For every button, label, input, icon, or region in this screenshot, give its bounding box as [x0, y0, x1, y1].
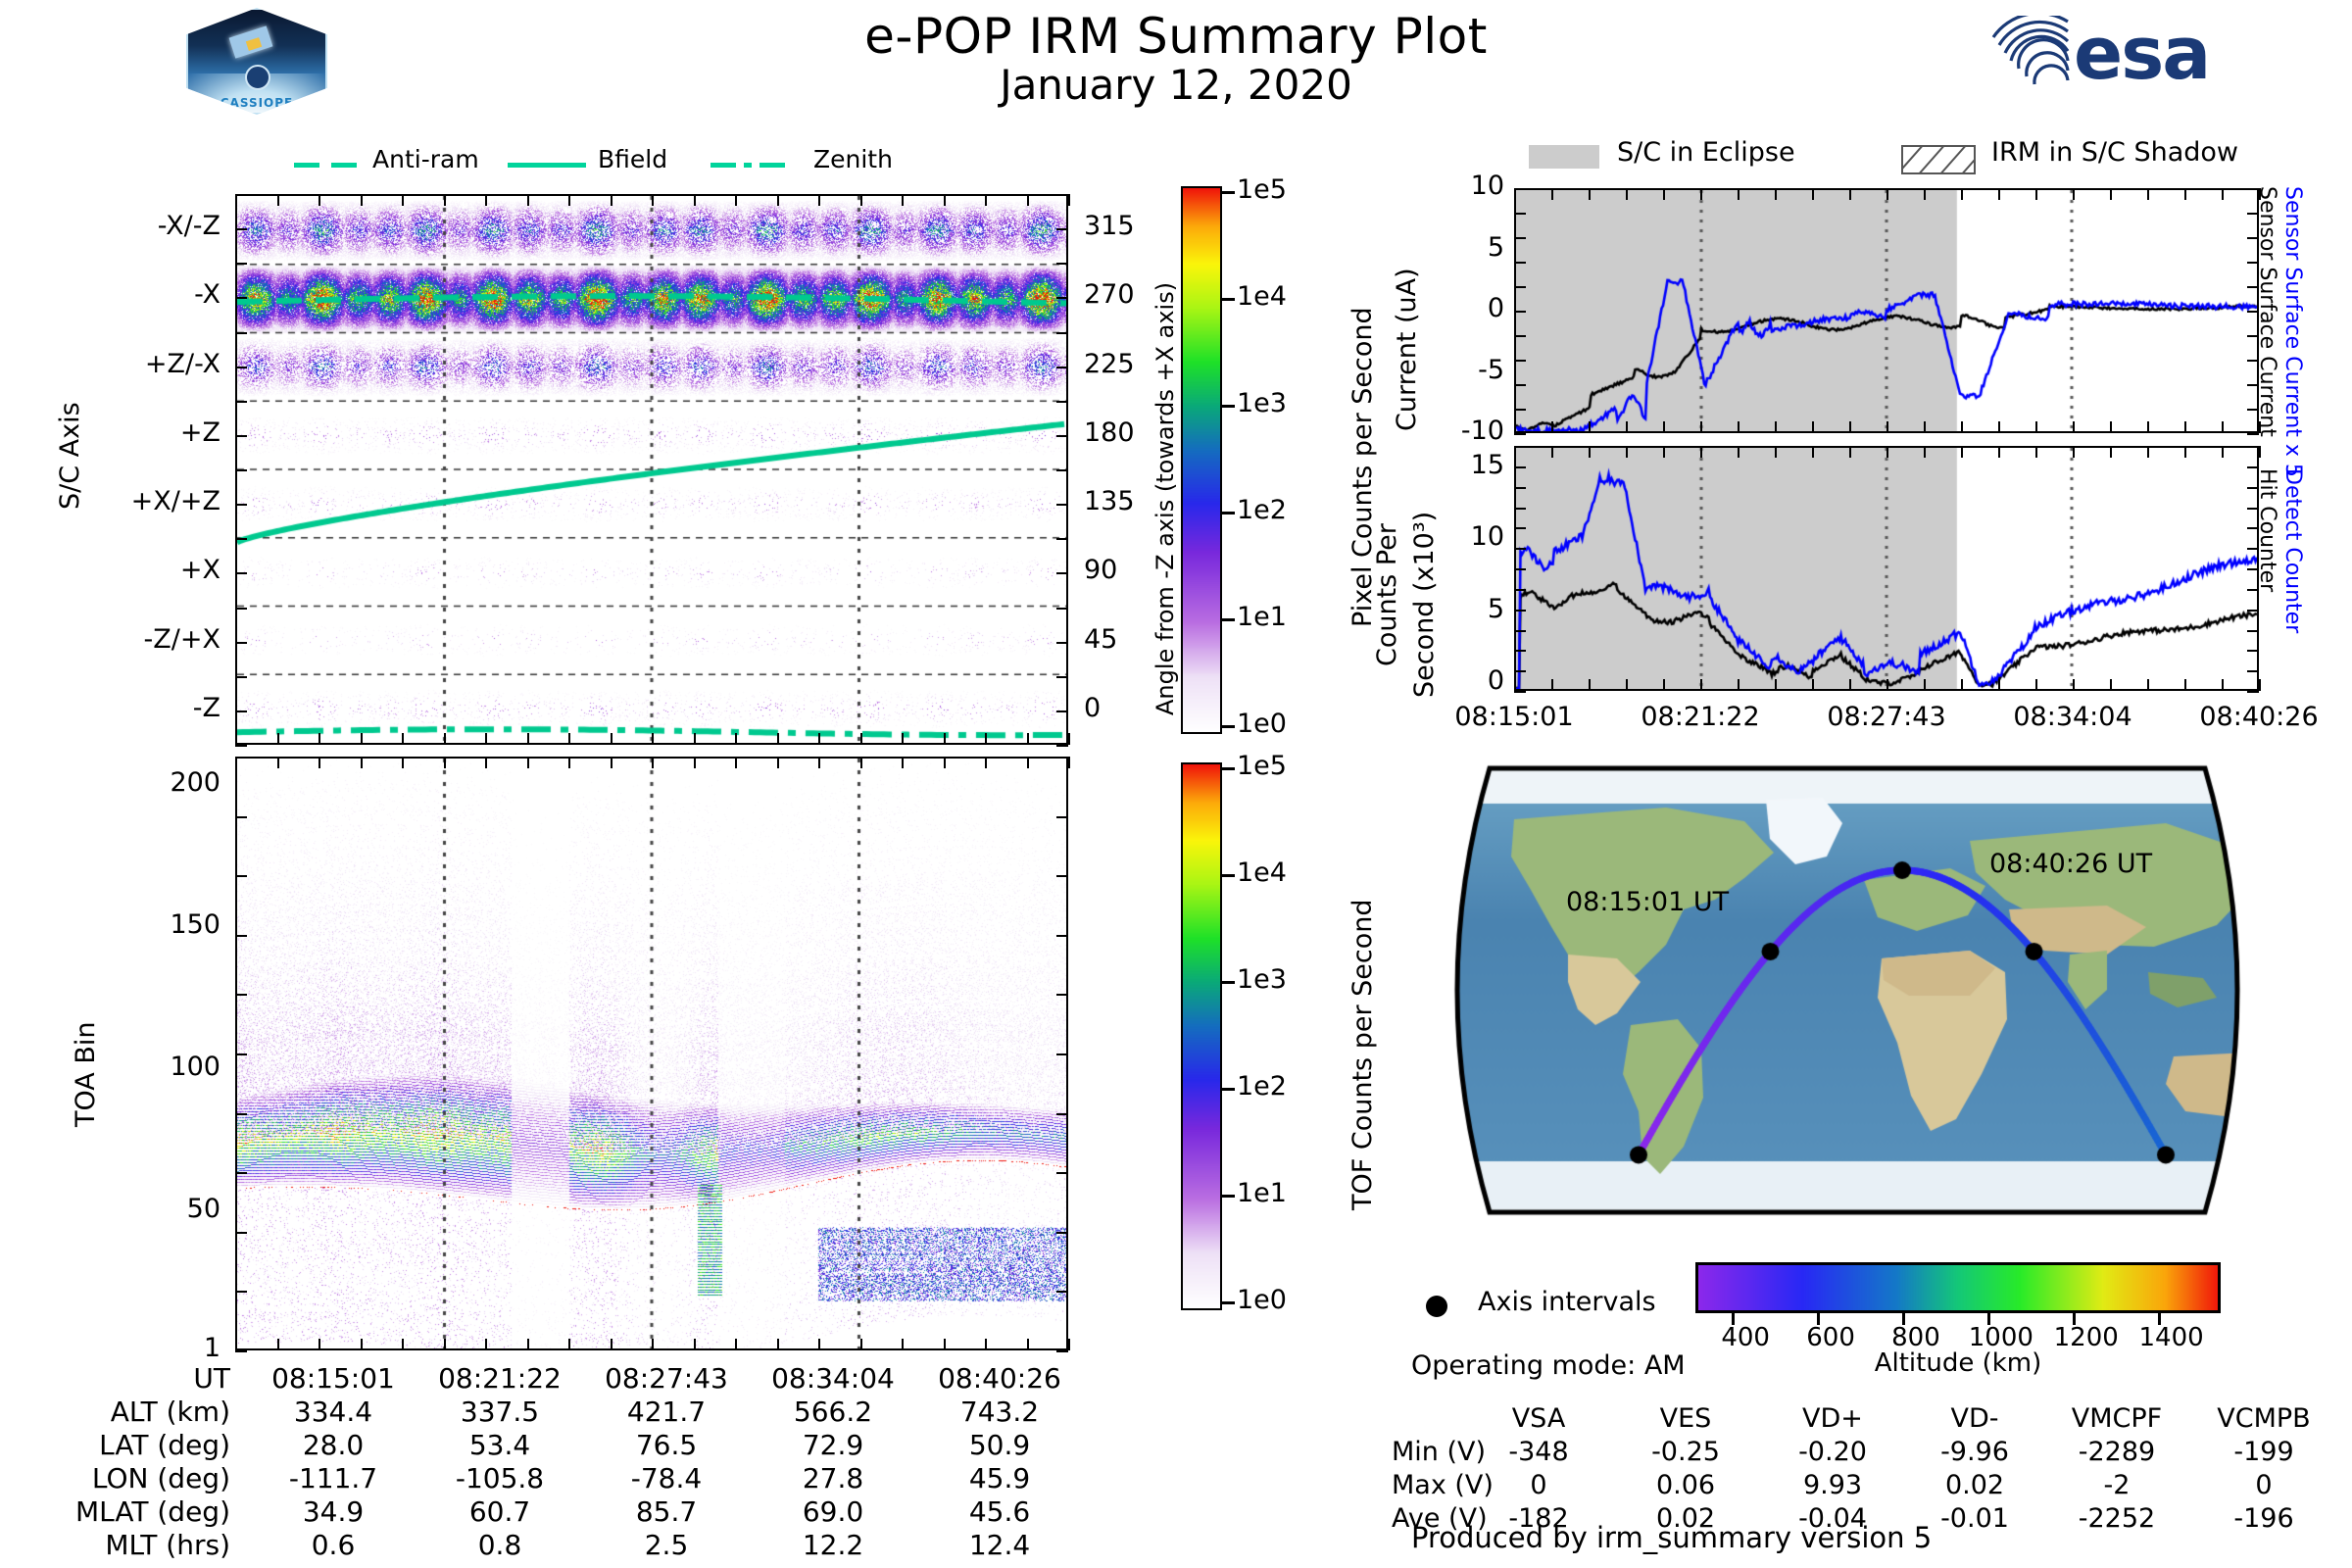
colorbar-tick-label: 1e0 — [1237, 1285, 1287, 1315]
counts-ytick — [1514, 446, 1526, 448]
table-cell: -105.8 — [416, 1462, 583, 1494]
counts-xtick — [1812, 679, 1814, 691]
sc-axis-ytick — [235, 401, 247, 403]
table-cell: 337.5 — [416, 1396, 583, 1428]
toa-ytick-label: 1 — [108, 1333, 220, 1363]
sc-axis-ytick-label: -Z — [93, 693, 220, 723]
toa-xtick — [277, 1339, 279, 1350]
counts-ytick — [1514, 568, 1526, 570]
toa-xtick — [777, 1339, 779, 1350]
toa-xtick — [694, 1339, 696, 1350]
table-cell: 12.4 — [916, 1529, 1083, 1561]
sc-axis-ytick — [1056, 297, 1068, 299]
sc-axis-right-ytick-label: 225 — [1084, 349, 1135, 379]
current-xtick — [1849, 188, 1851, 200]
counts-xtick — [1589, 679, 1591, 691]
cassiope-hex-icon: CASSIOPE — [186, 8, 327, 115]
table-cell: 08:15:01 — [250, 1362, 416, 1395]
counts-xtick — [2147, 446, 2149, 458]
sc-axis-ytick — [1056, 263, 1068, 265]
colorbar-tick-label: 1e3 — [1237, 964, 1287, 995]
counts-xtick — [1924, 679, 1926, 691]
colorbar-tick-mark — [1221, 191, 1235, 194]
voltage-table-cell: 0.02 — [1906, 1470, 2043, 1500]
counts-xtick — [2110, 446, 2112, 458]
toa-ytick — [235, 757, 247, 759]
sc-axis-ytick-label: +X/+Z — [93, 486, 220, 516]
counts-xtick — [1775, 446, 1777, 458]
sc-axis-xtick — [361, 733, 363, 745]
colorbar-tick-mark — [1221, 1195, 1235, 1198]
sc-axis-ytick — [235, 538, 247, 540]
sc-axis-xtick — [777, 194, 779, 206]
counts-xtick — [1663, 446, 1665, 458]
counts-xtick — [2073, 446, 2075, 458]
current-xtick — [2147, 421, 2149, 433]
current-xtick — [2259, 421, 2261, 433]
table-cell: 334.4 — [250, 1396, 416, 1428]
toa-xtick — [1027, 757, 1029, 768]
toa-xtick — [485, 1339, 487, 1350]
toa-xtick — [1068, 757, 1070, 768]
counts-xtick — [1663, 679, 1665, 691]
table-cell: 08:34:04 — [750, 1362, 916, 1395]
toa-ytick — [1056, 1350, 1068, 1352]
sc-axis-ytick — [1056, 367, 1068, 368]
current-xtick — [2259, 188, 2261, 200]
current-xtick — [1924, 421, 1926, 433]
sc-axis-xtick — [944, 194, 946, 206]
current-ytick-label: 5 — [1411, 232, 1504, 263]
toa-ytick — [235, 1291, 247, 1293]
sc-axis-ytick — [1056, 194, 1068, 196]
counts-xtick — [2259, 679, 2261, 691]
voltage-table-cell: -2 — [2048, 1470, 2185, 1500]
counts-xtick — [1626, 679, 1628, 691]
esa-arcs-icon — [1980, 16, 2074, 94]
sc-axis-ytick-label: -Z/+X — [93, 624, 220, 655]
current-ytick — [2247, 360, 2259, 362]
counts-xtick — [1849, 446, 1851, 458]
table-cell: 50.9 — [916, 1429, 1083, 1461]
sc-axis-xtick — [568, 194, 570, 206]
table-cell: 0.8 — [416, 1529, 583, 1561]
sc-axis-xtick — [735, 194, 737, 206]
toa-ytick — [1056, 994, 1068, 996]
toa-xtick — [527, 1339, 529, 1350]
counts-ytick — [2247, 691, 2259, 693]
sc-axis-ytick-label: -X — [93, 279, 220, 310]
current-xtick — [1700, 421, 1702, 433]
table-cell: 2.5 — [583, 1529, 750, 1561]
current-xtick — [1886, 188, 1888, 200]
sc-axis-ytick — [235, 676, 247, 678]
axis-interval-dot-icon — [1426, 1296, 1447, 1317]
sc-axis-xtick — [860, 733, 862, 745]
table-cell: 421.7 — [583, 1396, 750, 1428]
sc-axis-xtick — [1027, 733, 1029, 745]
sc-axis-right-ytick-label: 315 — [1084, 211, 1135, 241]
current-ytick — [1514, 237, 1526, 239]
current-xtick — [1998, 421, 2000, 433]
current-ytick — [1514, 188, 1526, 190]
sc-axis-xtick — [985, 733, 987, 745]
voltage-table-column-header: VCMPB — [2195, 1403, 2332, 1434]
table-cell: 27.8 — [750, 1462, 916, 1494]
colorbar-tick-label: 1e3 — [1237, 388, 1287, 418]
table-row-label: LON (deg) — [0, 1462, 230, 1494]
counts-xtick — [2035, 679, 2037, 691]
timeseries-xtick-label: 08:21:22 — [1612, 702, 1788, 732]
sc-axis-ytick — [1056, 332, 1068, 334]
current-ytick — [2247, 409, 2259, 411]
counts-ytick-label: 10 — [1411, 521, 1504, 552]
counts-ytick — [1514, 650, 1526, 652]
counts-xtick — [1886, 679, 1888, 691]
table-row-label: ALT (km) — [0, 1396, 230, 1428]
current-xtick — [1998, 188, 2000, 200]
current-ytick — [2247, 213, 2259, 215]
altitude-colorbar-label: Altitude (km) — [1695, 1348, 2221, 1378]
esa-logo: esa — [1980, 10, 2274, 98]
counts-xtick — [2222, 446, 2224, 458]
toa-xtick — [444, 1339, 446, 1350]
legend-swatch-shadow — [1901, 145, 1976, 174]
sc-axis-ytick — [1056, 608, 1068, 610]
sc-axis-xtick — [902, 194, 904, 206]
toa-xtick — [611, 1339, 612, 1350]
sc-axis-ytick — [1056, 469, 1068, 471]
current-ytick — [2247, 384, 2259, 386]
current-ytick — [1514, 213, 1526, 215]
colorbar-tick-mark — [1221, 981, 1235, 984]
toa-ytick — [1056, 757, 1068, 759]
sc-axis-ytick-label: -X/-Z — [93, 211, 220, 241]
legend-label-anti-ram: Anti-ram — [372, 145, 479, 173]
colorbar-tick-label: 1e4 — [1237, 857, 1287, 888]
table-row-label: MLAT (deg) — [0, 1495, 230, 1528]
current-xtick — [1738, 421, 1739, 433]
current-ytick — [2247, 311, 2259, 313]
toa-xtick — [860, 1339, 862, 1350]
sc-axis-ytick — [1056, 710, 1068, 712]
toa-xtick — [402, 1339, 404, 1350]
current-xtick — [1663, 188, 1665, 200]
sc-axis-ytick — [235, 642, 247, 644]
voltage-table-column-header: VMCPF — [2048, 1403, 2185, 1434]
current-xtick — [1551, 421, 1553, 433]
table-cell: 08:40:26 — [916, 1362, 1083, 1395]
colorbar-tick-mark — [1221, 874, 1235, 877]
legend-label-eclipse: S/C in Eclipse — [1617, 137, 1795, 168]
counts-ytick — [2247, 466, 2259, 468]
sc-axis-xtick — [1068, 194, 1070, 206]
legend-label-zenith: Zenith — [813, 145, 893, 173]
sc-axis-xtick — [694, 194, 696, 206]
counts-ytick — [1514, 630, 1526, 632]
toa-ytick — [235, 1113, 247, 1115]
counts-ytick — [2247, 610, 2259, 612]
timeseries-xtick-label: 08:40:26 — [2171, 702, 2347, 732]
toa-xtick — [735, 1339, 737, 1350]
legend-label-shadow: IRM in S/C Shadow — [1991, 137, 2238, 168]
timeseries-xtick-label: 08:34:04 — [1984, 702, 2161, 732]
sc-axis-right-ytick-label: 135 — [1084, 486, 1135, 516]
sc-axis-ytick — [1056, 676, 1068, 678]
table-cell: 45.6 — [916, 1495, 1083, 1528]
toa-xtick — [527, 757, 529, 768]
produced-by-label: Produced by irm_summary version 5 — [1411, 1521, 1932, 1554]
toa-heatmap[interactable] — [235, 757, 1068, 1350]
colorbar-tick-label: 1e1 — [1237, 602, 1287, 632]
counts-xtick — [1812, 446, 1814, 458]
toa-xtick — [318, 757, 320, 768]
sc-axis-ytick — [235, 297, 247, 299]
sc-axis-heatmap[interactable] — [235, 194, 1068, 745]
table-cell: 69.0 — [750, 1495, 916, 1528]
current-xtick — [1775, 421, 1777, 433]
table-cell: -78.4 — [583, 1462, 750, 1494]
voltage-table-cell: -348 — [1470, 1437, 1607, 1467]
toa-ytick — [235, 1053, 247, 1055]
sc-axis-ytick — [235, 367, 247, 368]
sc-axis-ytick — [1056, 228, 1068, 230]
colorbar-tick-mark — [1221, 512, 1235, 514]
sc-axis-xtick — [444, 733, 446, 745]
toa-xtick — [985, 1339, 987, 1350]
current-xtick — [1551, 188, 1553, 200]
counts-xtick — [1551, 446, 1553, 458]
toa-xtick — [1068, 1339, 1070, 1350]
current-xtick — [1775, 188, 1777, 200]
current-xtick — [1961, 421, 1963, 433]
counts-xtick — [2184, 679, 2186, 691]
counts-xtick — [2110, 679, 2112, 691]
current-ytick — [2247, 237, 2259, 239]
counts-xtick — [1738, 446, 1739, 458]
sc-axis-ytick — [1056, 745, 1068, 747]
toa-xtick — [361, 757, 363, 768]
table-cell: 08:21:22 — [416, 1362, 583, 1395]
table-cell: 72.9 — [750, 1429, 916, 1461]
colorbar-tick-mark — [1221, 725, 1235, 728]
toa-xtick — [402, 757, 404, 768]
counts-ytick — [2247, 446, 2259, 448]
counts-timeseries-plot[interactable] — [1514, 446, 2259, 691]
sc-axis-xtick — [485, 733, 487, 745]
sc-axis-ytick — [235, 435, 247, 437]
sc-axis-right-ytick-label: 90 — [1084, 555, 1117, 585]
current-xtick — [2035, 188, 2037, 200]
sc-axis-ytick-label: +Z/-X — [93, 349, 220, 379]
voltage-table-cell: -0.25 — [1617, 1437, 1754, 1467]
sc-axis-right-ytick-label: 45 — [1084, 624, 1117, 655]
colorbar-tick-label: 1e0 — [1237, 709, 1287, 739]
voltage-table-cell: -9.96 — [1906, 1437, 2043, 1467]
sc-axis-xtick — [318, 194, 320, 206]
sc-axis-xtick — [985, 194, 987, 206]
counts-right-label-blue: Detect Counter — [2280, 468, 2305, 633]
counts-ytick — [1514, 508, 1526, 510]
sc-axis-xtick — [277, 733, 279, 745]
toa-xtick — [694, 757, 696, 768]
voltage-table-cell: 0.06 — [1617, 1470, 1754, 1500]
counts-ylabel-line1: Counts Per — [1372, 523, 1402, 666]
toa-xtick — [652, 757, 654, 768]
current-xtick — [2035, 421, 2037, 433]
table-cell: 85.7 — [583, 1495, 750, 1528]
toa-xtick — [235, 1339, 237, 1350]
toa-xtick — [902, 1339, 904, 1350]
sc-axis-xtick — [818, 733, 820, 745]
counts-ytick-label: 0 — [1411, 665, 1504, 696]
current-ytick — [1514, 409, 1526, 411]
toa-ylabel: TOA Bin — [71, 1022, 101, 1127]
colorbar-tick-label: 1e5 — [1237, 174, 1287, 205]
sc-axis-right-ytick-label: 270 — [1084, 279, 1135, 310]
counts-xtick — [2222, 679, 2224, 691]
current-ytick — [2247, 286, 2259, 288]
altitude-colorbar — [1695, 1262, 2221, 1313]
map-start-label: 08:15:01 UT — [1566, 887, 1729, 917]
current-xtick — [1626, 421, 1628, 433]
toa-xtick — [735, 757, 737, 768]
counts-ytick — [2247, 630, 2259, 632]
voltage-table-cell: -2252 — [2048, 1503, 2185, 1534]
map-end-label: 08:40:26 UT — [1989, 849, 2152, 879]
current-ytick — [1514, 433, 1526, 435]
current-xtick — [1626, 188, 1628, 200]
ground-track-map[interactable] — [1421, 762, 2274, 1218]
table-cell: 76.5 — [583, 1429, 750, 1461]
counts-ytick — [2247, 487, 2259, 489]
voltage-table-cell: -2289 — [2048, 1437, 2185, 1467]
sc-axis-xtick — [444, 194, 446, 206]
current-ytick — [2247, 335, 2259, 337]
voltage-table-cell: 0 — [1470, 1470, 1607, 1500]
legend-swatch-bfield — [508, 155, 586, 173]
toa-ytick-label: 200 — [108, 767, 220, 798]
current-ytick-label: -10 — [1411, 416, 1504, 446]
colorbar-tick-label: 1e5 — [1237, 751, 1287, 781]
colorbar-tick-label: 1e4 — [1237, 281, 1287, 312]
current-xtick — [1812, 421, 1814, 433]
current-xtick — [2222, 188, 2224, 200]
toa-colorbar — [1181, 762, 1222, 1310]
legend-label-bfield: Bfield — [598, 145, 667, 173]
toa-ytick — [235, 875, 247, 877]
table-row-label: UT — [0, 1362, 230, 1395]
sc-axis-right-ylabel: Angle from -Z axis (towards +X axis) — [1151, 282, 1179, 715]
current-timeseries-plot[interactable] — [1514, 188, 2259, 433]
sc-axis-xtick — [694, 733, 696, 745]
table-cell: 08:27:43 — [583, 1362, 750, 1395]
table-cell: 28.0 — [250, 1429, 416, 1461]
current-ytick-label: -5 — [1411, 355, 1504, 385]
sc-axis-ytick-label: +Z — [93, 417, 220, 448]
sc-axis-right-ytick-label: 0 — [1084, 693, 1101, 723]
sc-axis-ytick — [1056, 572, 1068, 574]
counts-ytick — [1514, 589, 1526, 591]
sc-axis-ylabel: S/C Axis — [55, 402, 85, 510]
toa-ytick — [1056, 1291, 1068, 1293]
toa-xtick — [318, 1339, 320, 1350]
counts-ytick — [1514, 487, 1526, 489]
counts-ytick — [1514, 527, 1526, 529]
colorbar-tick-label: 1e1 — [1237, 1178, 1287, 1208]
current-xtick — [1812, 188, 1814, 200]
toa-xtick — [444, 757, 446, 768]
toa-xtick — [944, 1339, 946, 1350]
counts-xtick — [1961, 446, 1963, 458]
counts-xtick — [2147, 679, 2149, 691]
counts-ytick — [1514, 548, 1526, 550]
toa-xtick — [818, 1339, 820, 1350]
table-cell: -111.7 — [250, 1462, 416, 1494]
sc-axis-xtick — [235, 733, 237, 745]
toa-ytick — [1056, 1172, 1068, 1174]
current-xtick — [1849, 421, 1851, 433]
current-ytick — [1514, 262, 1526, 264]
counts-xtick — [1589, 446, 1591, 458]
sc-axis-ytick-label: +X — [93, 555, 220, 585]
table-row-label: MLT (hrs) — [0, 1529, 230, 1561]
voltage-table-cell: 9.93 — [1764, 1470, 1901, 1500]
toa-colorbar-label: TOF Counts per Second — [1347, 900, 1378, 1211]
cassiope-logo: CASSIOPE — [186, 8, 323, 111]
colorbar-tick-mark — [1221, 618, 1235, 621]
sc-axis-xtick — [735, 733, 737, 745]
current-ytick — [1514, 286, 1526, 288]
counts-xtick — [1961, 679, 1963, 691]
current-ytick — [2247, 433, 2259, 435]
sc-axis-xtick — [485, 194, 487, 206]
toa-ytick — [235, 935, 247, 937]
toa-xtick — [611, 757, 612, 768]
sc-axis-colorbar — [1181, 186, 1222, 734]
current-xtick — [2222, 421, 2224, 433]
sc-axis-xtick — [1068, 733, 1070, 745]
sc-axis-ytick — [1056, 538, 1068, 540]
sc-axis-ytick — [235, 228, 247, 230]
current-ytick — [2247, 188, 2259, 190]
counts-ytick — [2247, 527, 2259, 529]
mission-patch-icon — [245, 65, 270, 90]
colorbar-tick-label: 1e2 — [1237, 495, 1287, 525]
sc-axis-ytick — [235, 745, 247, 747]
sc-axis-right-ytick-label: 180 — [1084, 417, 1135, 448]
sc-axis-xtick — [944, 733, 946, 745]
colorbar-tick-mark — [1221, 1301, 1235, 1304]
toa-ytick — [235, 1172, 247, 1174]
counts-ytick — [2247, 670, 2259, 672]
sc-axis-xtick — [402, 733, 404, 745]
table-cell: 12.2 — [750, 1529, 916, 1561]
counts-ytick-label: 15 — [1411, 450, 1504, 480]
counts-xtick — [1775, 679, 1777, 691]
timeseries-xtick-label: 08:15:01 — [1426, 702, 1602, 732]
toa-ytick — [1056, 875, 1068, 877]
counts-xtick — [1998, 446, 2000, 458]
sc-axis-ytick — [235, 504, 247, 506]
sc-axis-xtick — [1027, 194, 1029, 206]
current-xtick — [2147, 188, 2149, 200]
counts-ytick — [2247, 650, 2259, 652]
sc-axis-xtick — [402, 194, 404, 206]
current-xtick — [1738, 188, 1739, 200]
current-ytick — [1514, 311, 1526, 313]
table-cell: 566.2 — [750, 1396, 916, 1428]
